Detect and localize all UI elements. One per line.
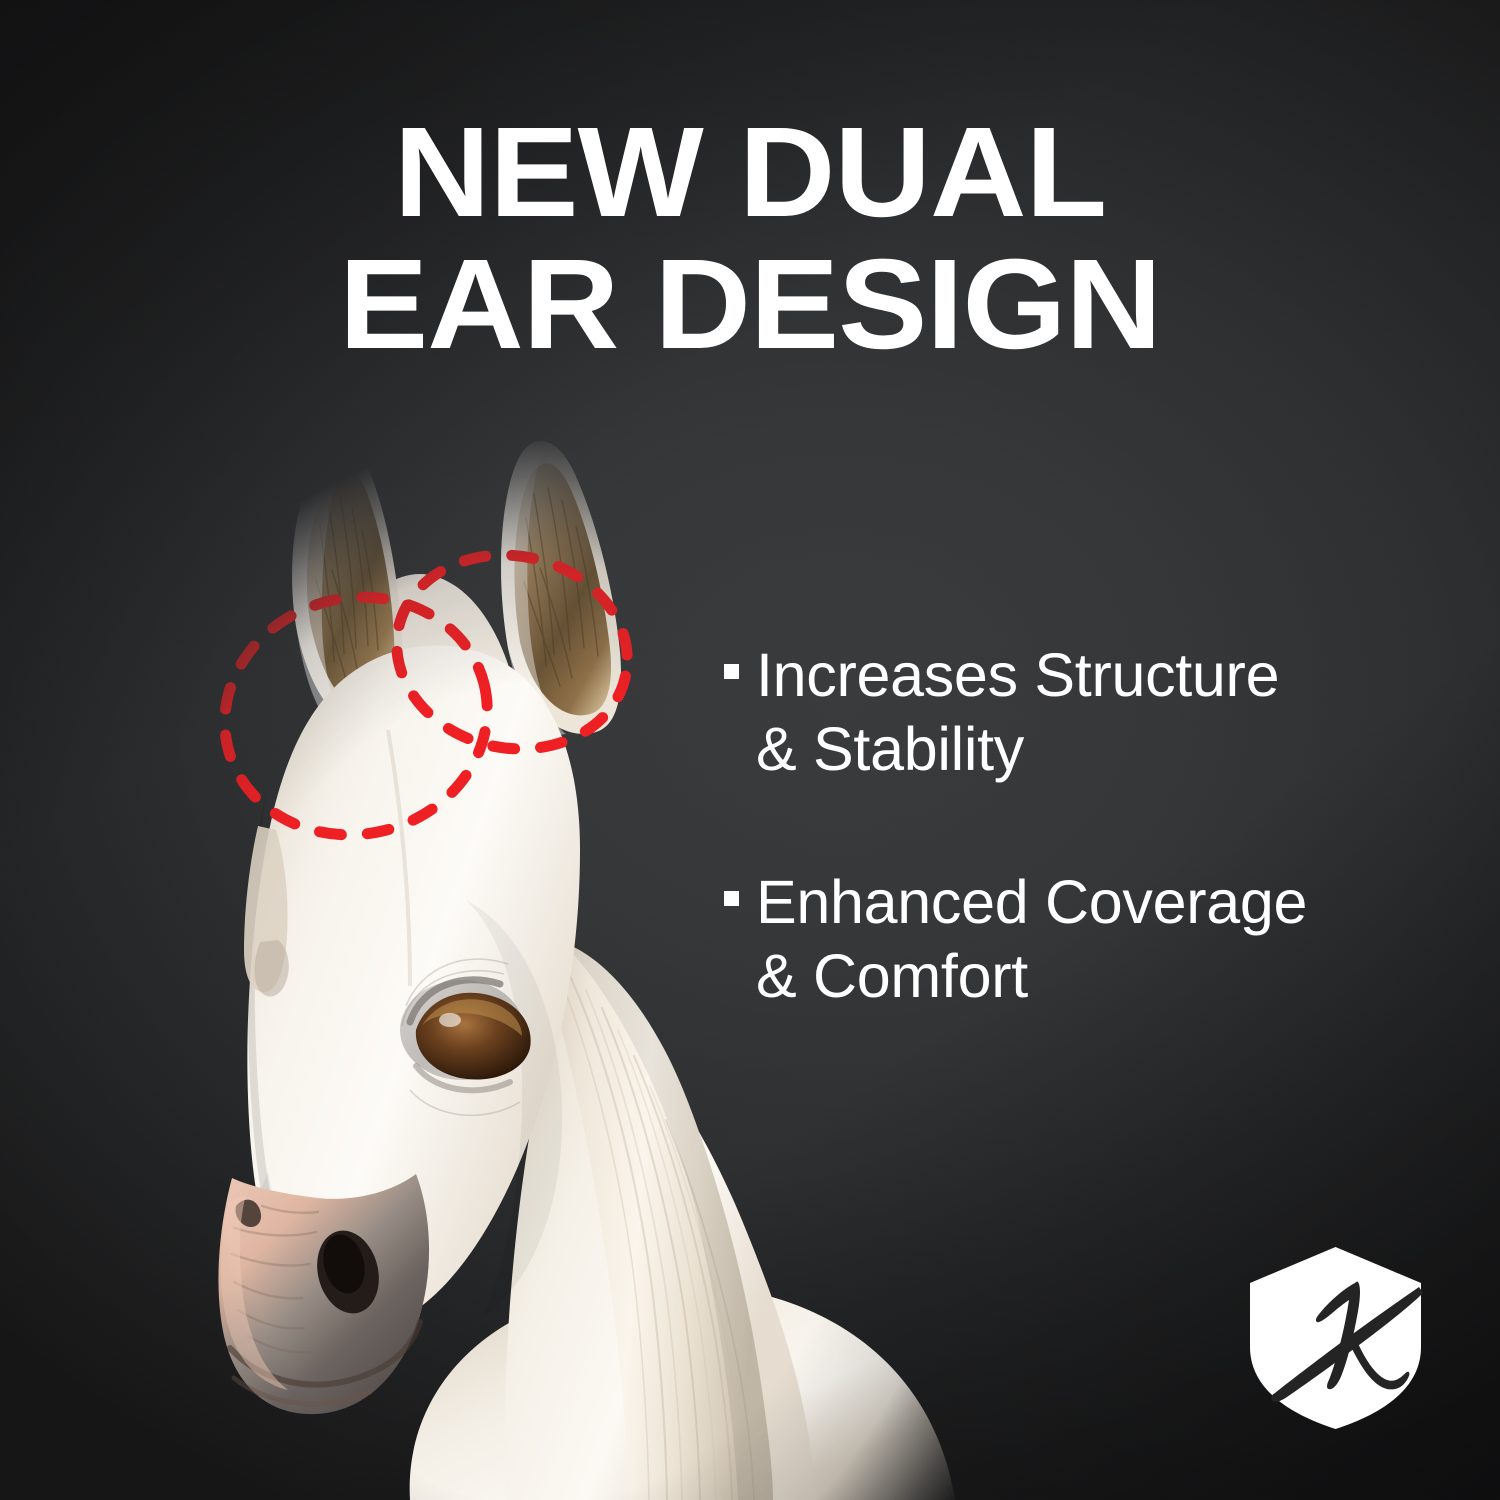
feature-line-2: & Comfort	[756, 942, 1028, 1010]
brand-shield-logo	[1243, 1243, 1428, 1433]
feature-line-1: Increases Structure	[756, 641, 1279, 709]
feature-list: Increases Structure & Stability Enhanced…	[724, 638, 1424, 1014]
headline-line-1: NEW DUAL	[0, 112, 1500, 234]
bullet-square-icon	[724, 664, 739, 679]
headline: NEW DUAL EAR DESIGN	[0, 112, 1500, 365]
horse-muzzle	[218, 1174, 429, 1414]
feature-text-coverage: Enhanced Coverage & Comfort	[756, 865, 1307, 1014]
feature-item-structure: Increases Structure & Stability	[724, 638, 1424, 787]
bullet-square-icon	[724, 891, 739, 906]
feature-item-coverage: Enhanced Coverage & Comfort	[724, 865, 1424, 1014]
headline-line-2: EAR DESIGN	[0, 244, 1500, 366]
feature-line-1: Enhanced Coverage	[756, 868, 1307, 936]
promo-image-canvas: NEW DUAL EAR DESIGN Increases Structure …	[0, 0, 1500, 1500]
feature-line-2: & Stability	[756, 715, 1024, 783]
feature-text-structure: Increases Structure & Stability	[756, 638, 1279, 787]
